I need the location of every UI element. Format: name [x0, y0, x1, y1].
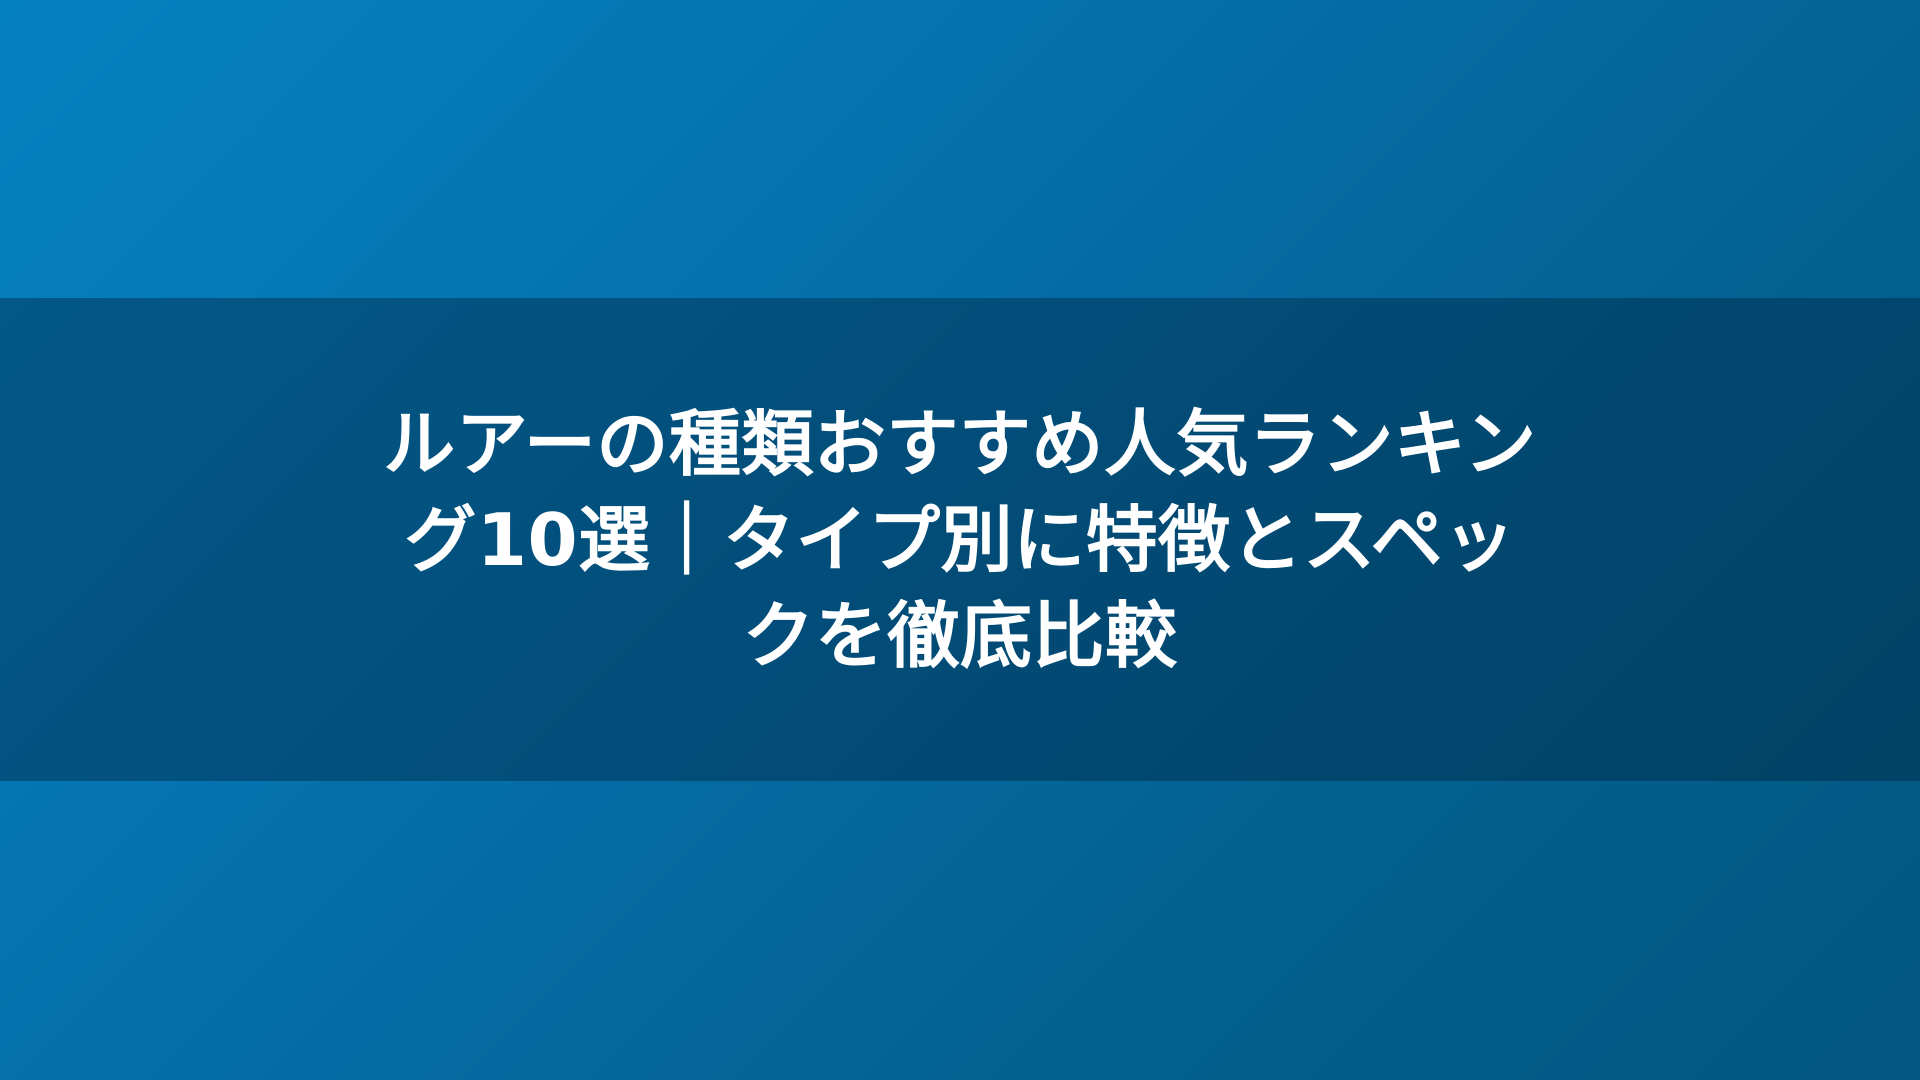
title-line-2: グ10選｜タイプ別に特徴とスペッ: [220, 492, 1700, 588]
title-overlay-band: ルアーの種類おすすめ人気ランキン グ10選｜タイプ別に特徴とスペッ クを徹底比較: [0, 298, 1920, 781]
page-title: ルアーの種類おすすめ人気ランキン グ10選｜タイプ別に特徴とスペッ クを徹底比較: [160, 396, 1760, 684]
title-line-3: クを徹底比較: [220, 588, 1700, 684]
title-line-1: ルアーの種類おすすめ人気ランキン: [220, 396, 1700, 492]
title-card-banner: ルアーの種類おすすめ人気ランキン グ10選｜タイプ別に特徴とスペッ クを徹底比較: [0, 0, 1920, 1080]
